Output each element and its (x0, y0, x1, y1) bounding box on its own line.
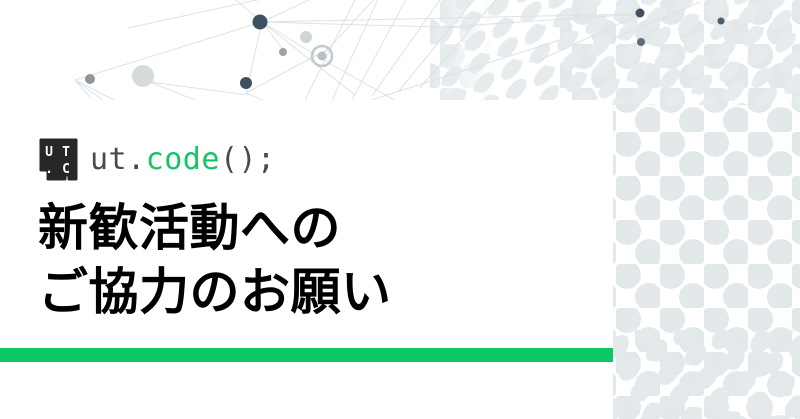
headline-line-1: 新歓活動への (38, 196, 392, 260)
logo-letter-dot: . (45, 162, 53, 177)
accent-rule (0, 348, 613, 362)
wordmark-prefix: ut. (90, 145, 146, 175)
slide-canvas: U T . C ut.code(); 新歓活動への ご協力のお願い (0, 0, 800, 419)
graph-node-mid (85, 74, 95, 84)
logo-letter-c: C (62, 162, 70, 177)
page-title: 新歓活動への ご協力のお願い (38, 196, 392, 324)
headline-line-2: ご協力のお願い (38, 260, 392, 324)
graph-node-light (132, 65, 154, 87)
logo-letter-u: U (45, 145, 53, 160)
graph-node-dark (718, 18, 725, 25)
brand-lockup: U T . C ut.code(); (38, 137, 276, 182)
graph-node-dark (240, 77, 252, 89)
graph-node-dark (253, 15, 268, 30)
graph-node-dark (636, 9, 645, 18)
utcode-logo-icon: U T . C (38, 137, 79, 182)
wordmark-suffix: (); (220, 145, 276, 175)
graph-node-dark (637, 38, 645, 46)
graph-node-ring (312, 46, 332, 66)
brand-wordmark: ut.code(); (90, 145, 276, 175)
logo-letter-t: T (62, 145, 70, 160)
graph-node-light (300, 31, 312, 43)
graph-node-mid (279, 48, 287, 56)
wordmark-highlight: code (146, 145, 220, 175)
